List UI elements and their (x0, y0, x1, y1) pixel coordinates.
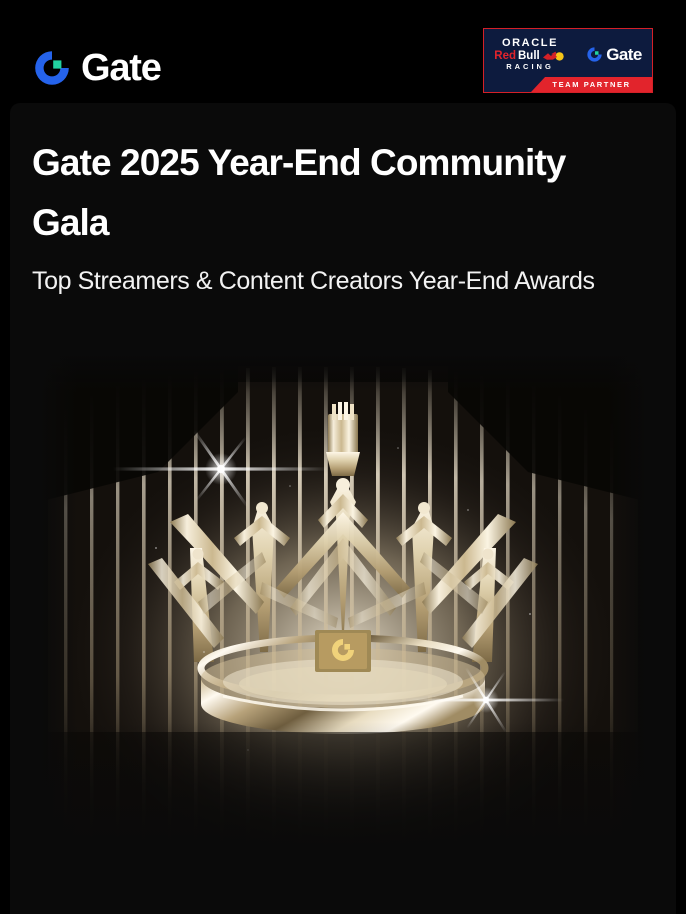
page-subtitle: Top Streamers & Content Creators Year-En… (32, 261, 632, 301)
red-bull-charging-bulls-icon (542, 50, 566, 62)
gate-brand-logo[interactable]: Gate (32, 48, 161, 88)
content-panel: Gate 2025 Year-End Community Gala Top St… (10, 103, 676, 914)
crown-gate-plaque (315, 630, 371, 672)
racing-wordmark: RACING (506, 63, 554, 71)
bull-word: Bull (518, 51, 540, 63)
promo-page: Gate ORACLE Red Bull (0, 0, 686, 914)
gate-logo-icon (32, 48, 72, 88)
page-title: Gate 2025 Year-End Community Gala (32, 133, 632, 253)
red-bull-wordmark: Red Bull (494, 50, 565, 62)
gate-logo-icon (586, 46, 603, 63)
team-partner-banner: TEAM PARTNER (531, 77, 652, 92)
partner-gate-wordmark: Gate (606, 45, 641, 65)
brand-name: Gate (81, 49, 161, 87)
oracle-wordmark: ORACLE (502, 38, 558, 49)
team-partner-label: TEAM PARTNER (552, 80, 630, 89)
oracle-red-bull-racing-partner-badge: ORACLE Red Bull RACING (483, 28, 653, 93)
hero-crown-image (38, 352, 648, 872)
red-word: Red (494, 51, 516, 63)
page-header: Gate ORACLE Red Bull (0, 0, 686, 103)
